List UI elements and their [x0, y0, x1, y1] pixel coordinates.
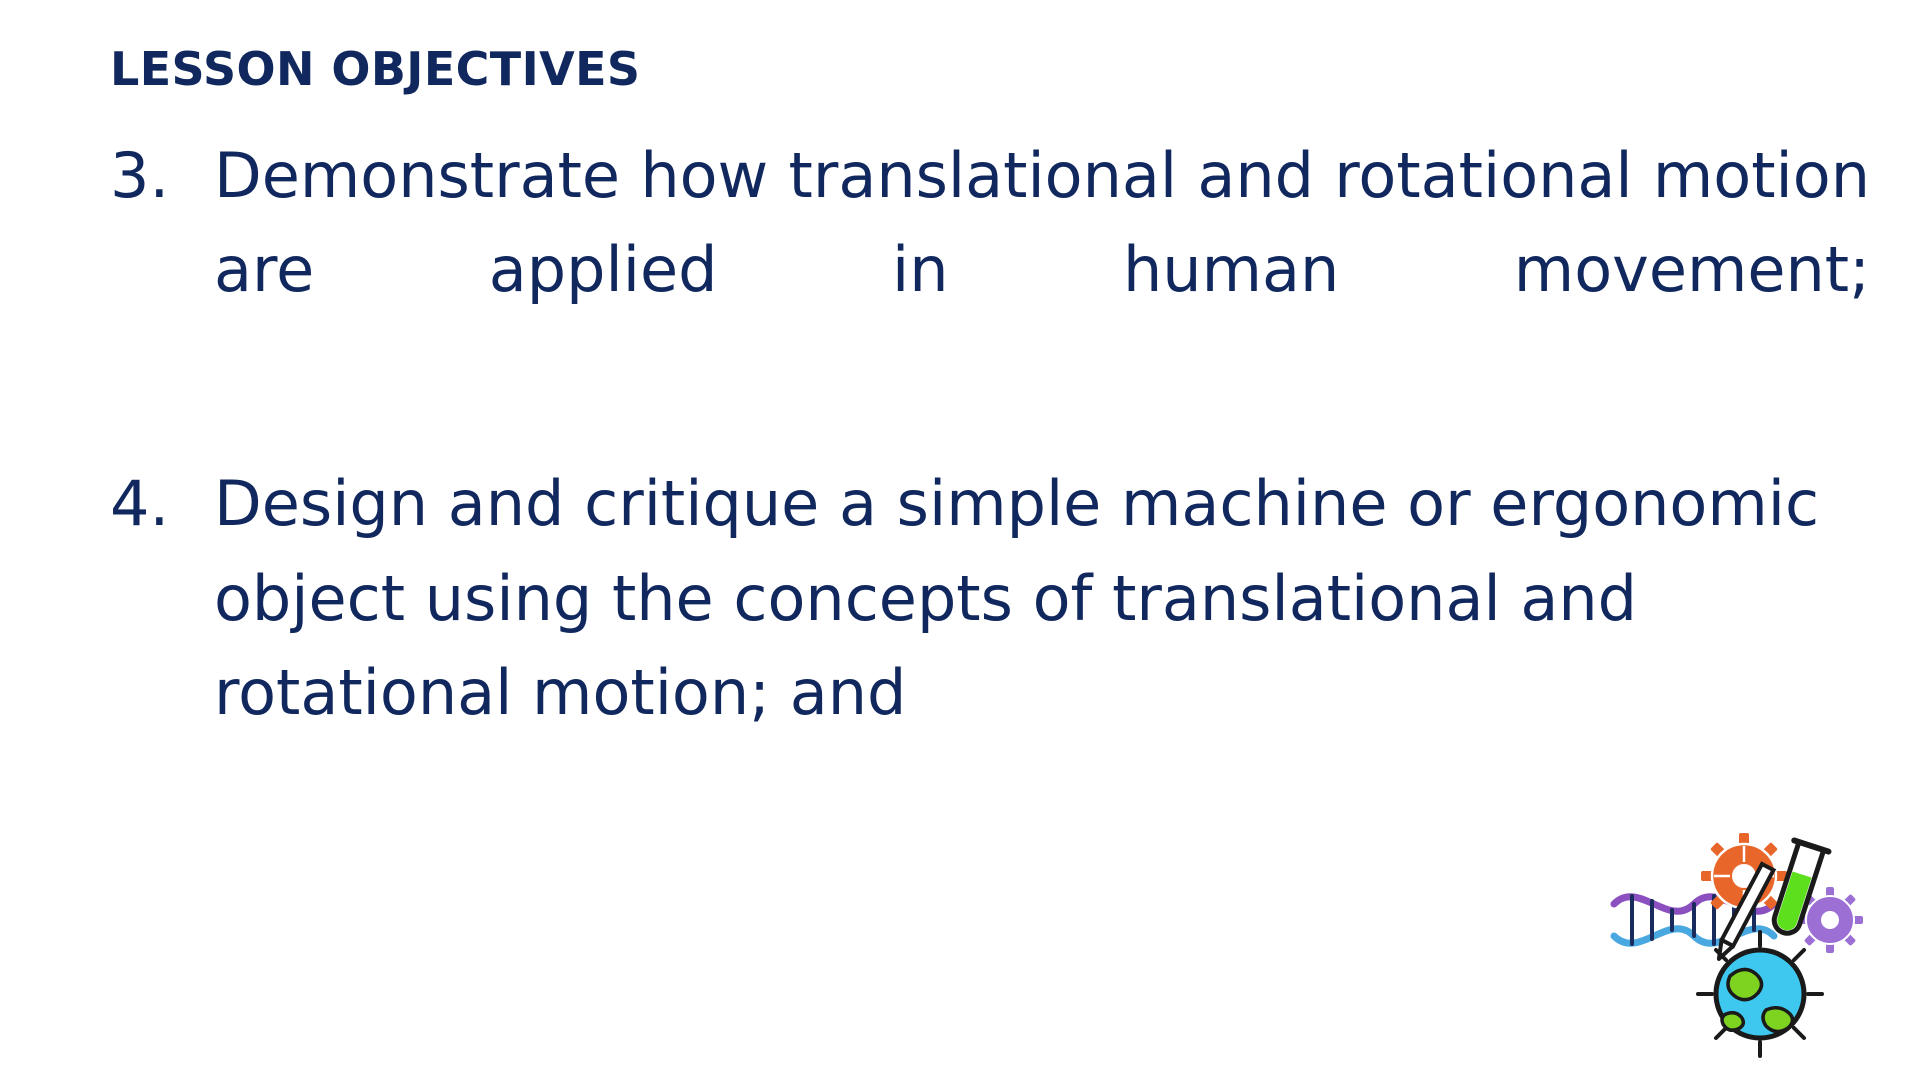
list-item: 3. Demonstrate how translational and rot… — [110, 129, 1870, 412]
list-item-number: 4. — [110, 457, 214, 551]
list-item: 4. Design and critique a simple machine … — [110, 457, 1870, 740]
dna-helix-icon — [1614, 896, 1774, 944]
gear-purple-icon — [1797, 887, 1863, 953]
page-title: LESSON OBJECTIVES — [110, 44, 1856, 95]
list-item-text: Design and critique a simple machine or … — [214, 457, 1870, 740]
slide-root: LESSON OBJECTIVES 3. Demonstrate how tra… — [0, 0, 1920, 1080]
test-tube-icon — [1766, 840, 1828, 938]
science-icons-cluster — [1594, 824, 1894, 1074]
list-item-number: 3. — [110, 129, 214, 223]
globe-icon — [1698, 932, 1822, 1056]
pencil-icon — [1713, 864, 1773, 962]
objectives-list: 3. Demonstrate how translational and rot… — [110, 129, 1870, 740]
list-item-text: Demonstrate how translational and rotati… — [214, 129, 1870, 412]
gear-orange-icon — [1701, 833, 1787, 919]
